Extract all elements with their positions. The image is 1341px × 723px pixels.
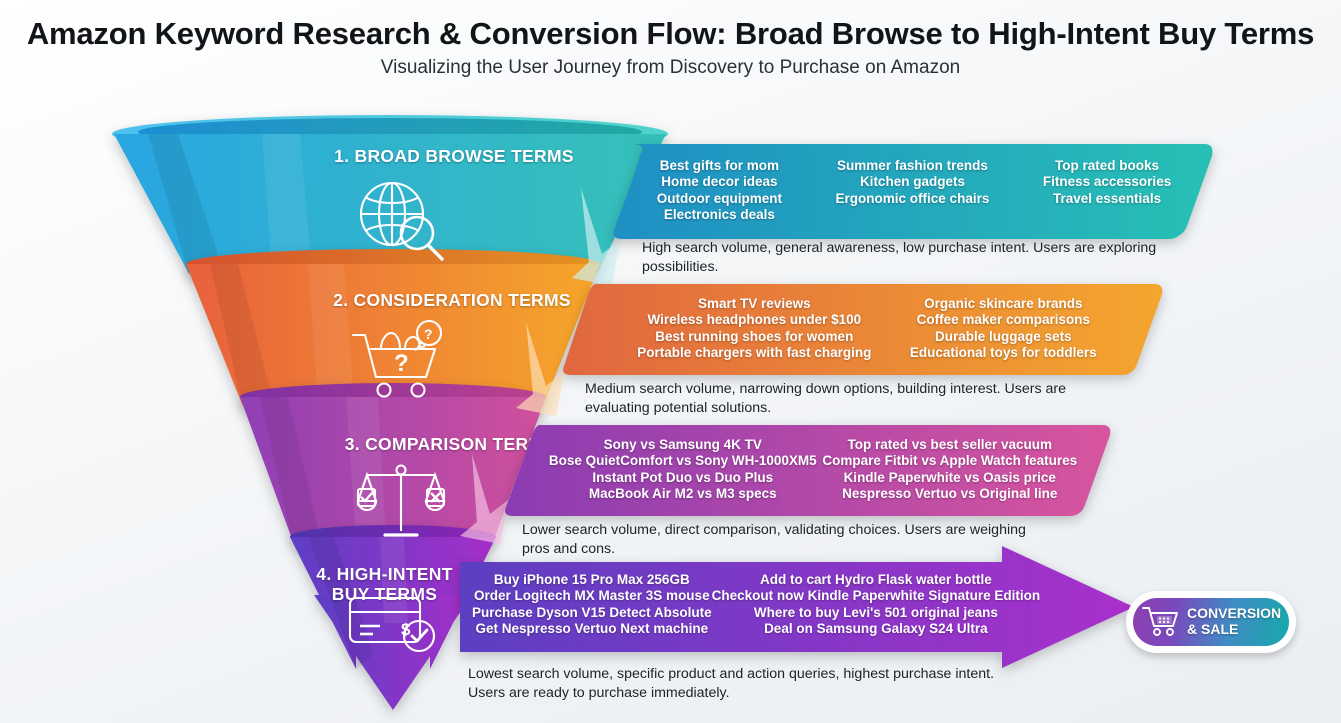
keyword-item: Buy iPhone 15 Pro Max 256GB <box>494 572 690 588</box>
keyword-column: Add to cart Hydro Flask water bottle Che… <box>712 572 1041 638</box>
keyword-column: Smart TV reviews Wireless headphones und… <box>637 296 871 362</box>
keyword-item: Best gifts for mom <box>660 158 779 174</box>
keyword-item: Add to cart Hydro Flask water bottle <box>760 572 992 588</box>
keyword-column: Buy iPhone 15 Pro Max 256GB Order Logite… <box>472 572 712 638</box>
conversion-badge[interactable]: CONVERSION & SALE <box>1126 591 1296 653</box>
keyword-item: Top rated vs best seller vacuum <box>847 437 1052 453</box>
conversion-badge-inner: CONVERSION & SALE <box>1133 598 1289 646</box>
keyword-item: Educational toys for toddlers <box>910 345 1097 361</box>
page-title: Amazon Keyword Research & Conversion Flo… <box>0 16 1341 52</box>
conversion-badge-label: CONVERSION & SALE <box>1187 606 1281 637</box>
keyword-item: Travel essentials <box>1053 191 1161 207</box>
keyword-item: Purchase Dyson V15 Detect Absolute <box>472 605 712 621</box>
keyword-item: Bose QuietComfort vs Sony WH-1000XM5 <box>549 453 817 469</box>
keyword-panel-2: Smart TV reviews Wireless headphones und… <box>558 282 1166 379</box>
keyword-item: Deal on Samsung Galaxy S24 Ultra <box>764 621 988 637</box>
svg-text:?: ? <box>424 326 433 342</box>
keyword-item: Checkout now Kindle Paperwhite Signature… <box>712 588 1041 604</box>
keyword-item: Nespresso Vertuo vs Original line <box>842 486 1057 502</box>
keyword-panel-4: Buy iPhone 15 Pro Max 256GB Order Logite… <box>446 544 1136 671</box>
keyword-item: MacBook Air M2 vs M3 specs <box>589 486 777 502</box>
stage-description-2: Medium search volume, narrowing down opt… <box>585 380 1130 418</box>
stage-description-4: Lowest search volume, specific product a… <box>468 665 1028 703</box>
shopping-cart-icon <box>1142 604 1180 641</box>
svg-text:?: ? <box>394 350 409 377</box>
keyword-column: Sony vs Samsung 4K TV Bose QuietComfort … <box>549 437 817 503</box>
keyword-item: Sony vs Samsung 4K TV <box>604 437 762 453</box>
keyword-item: Kitchen gadgets <box>860 174 965 190</box>
keyword-item: Fitness accessories <box>1043 174 1171 190</box>
shopping-cart-question-icon: ? ? <box>347 319 449 403</box>
infographic-canvas: Amazon Keyword Research & Conversion Flo… <box>0 0 1341 723</box>
keyword-item: Ergonomic office chairs <box>836 191 990 207</box>
keyword-panel-1: Best gifts for mom Home decor ideas Outd… <box>612 144 1216 241</box>
funnel-label-1: 1. BROAD BROWSE TERMS <box>284 146 624 166</box>
keyword-item: Organic skincare brands <box>924 296 1082 312</box>
keyword-column: Organic skincare brands Coffee maker com… <box>910 296 1097 362</box>
keyword-item: Electronics deals <box>664 207 775 223</box>
stage-description-1: High search volume, general awareness, l… <box>642 239 1182 277</box>
keyword-item: Compare Fitbit vs Apple Watch features <box>822 453 1077 469</box>
keyword-column: Summer fashion trends Kitchen gadgets Er… <box>836 158 990 207</box>
keyword-column: Top rated vs best seller vacuum Compare … <box>822 437 1077 503</box>
keyword-item: Kindle Paperwhite vs Oasis price <box>844 470 1056 486</box>
keyword-item: Portable chargers with fast charging <box>637 345 871 361</box>
credit-card-check-icon: $ <box>346 592 442 656</box>
keyword-item: Order Logitech MX Master 3S mouse <box>474 588 710 604</box>
keyword-column: Top rated books Fitness accessories Trav… <box>1043 158 1171 207</box>
keyword-item: Top rated books <box>1055 158 1159 174</box>
keyword-item: Outdoor equipment <box>657 191 782 207</box>
balance-scale-icon <box>357 459 445 545</box>
keyword-item: Where to buy Levi's 501 original jeans <box>754 605 998 621</box>
keyword-item: Get Nespresso Vertuo Next machine <box>476 621 709 637</box>
keyword-panel-3: Sony vs Samsung 4K TV Bose QuietComfort … <box>500 423 1114 520</box>
globe-search-icon <box>352 176 448 262</box>
keyword-item: Smart TV reviews <box>698 296 811 312</box>
page-subtitle: Visualizing the User Journey from Discov… <box>0 57 1341 79</box>
keyword-column: Best gifts for mom Home decor ideas Outd… <box>657 158 782 224</box>
keyword-item: Summer fashion trends <box>837 158 988 174</box>
keyword-item: Coffee maker comparisons <box>917 312 1090 328</box>
keyword-item: Home decor ideas <box>661 174 777 190</box>
header: Amazon Keyword Research & Conversion Flo… <box>0 0 1341 79</box>
keyword-item: Wireless headphones under $100 <box>647 312 861 328</box>
keyword-item: Durable luggage sets <box>935 329 1072 345</box>
keyword-item: Instant Pot Duo vs Duo Plus <box>592 470 773 486</box>
keyword-item: Best running shoes for women <box>655 329 853 345</box>
